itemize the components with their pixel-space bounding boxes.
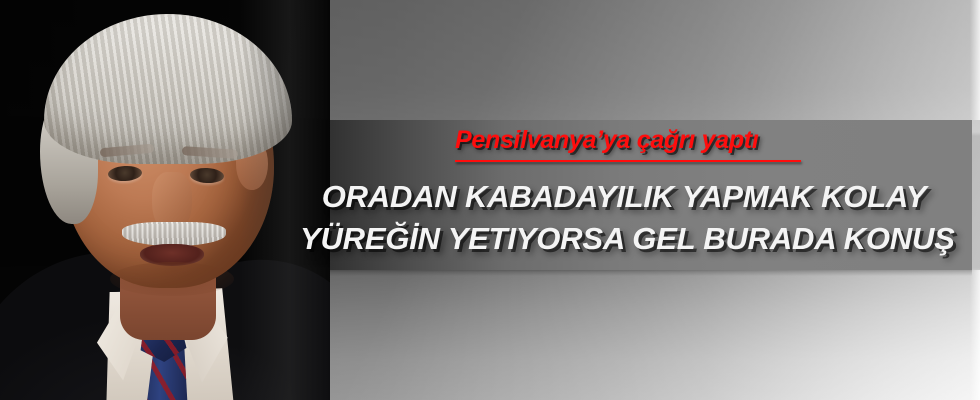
- kicker-text: Pensilvanya’ya çağrı yaptı: [455, 126, 758, 155]
- moustache: [122, 222, 226, 246]
- portrait-photo: [0, 0, 330, 400]
- headline-line-1: ORADAN KABADAYILIK YAPMAK KOLAY: [300, 176, 948, 218]
- headline-line-2: YÜREĞİN YETIYORSA GEL BURADA KONUŞ: [300, 218, 948, 260]
- news-banner-image: Pensilvanya’ya çağrı yaptı ORADAN KABADA…: [0, 0, 980, 400]
- kicker-underline: [455, 160, 801, 162]
- headline-text: ORADAN KABADAYILIK YAPMAK KOLAY YÜREĞİN …: [300, 176, 948, 260]
- chin-shadow: [110, 262, 234, 296]
